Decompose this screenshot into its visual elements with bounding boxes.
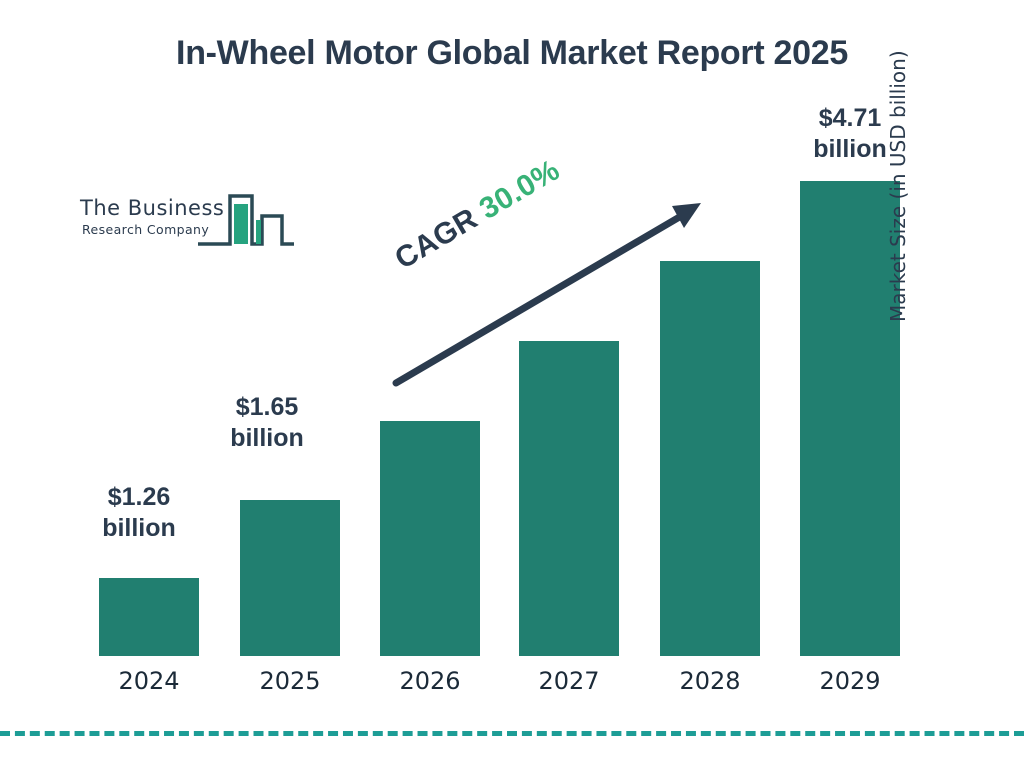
y-axis-title: Market Size (in USD billion) bbox=[886, 0, 910, 322]
bar-chart-plot-area: $1.26 billion $1.65 billion $4.71 billio… bbox=[0, 0, 1024, 768]
growth-arrow-icon bbox=[0, 0, 1024, 768]
chart-canvas: In-Wheel Motor Global Market Report 2025… bbox=[0, 0, 1024, 768]
footer-divider bbox=[0, 731, 1024, 736]
